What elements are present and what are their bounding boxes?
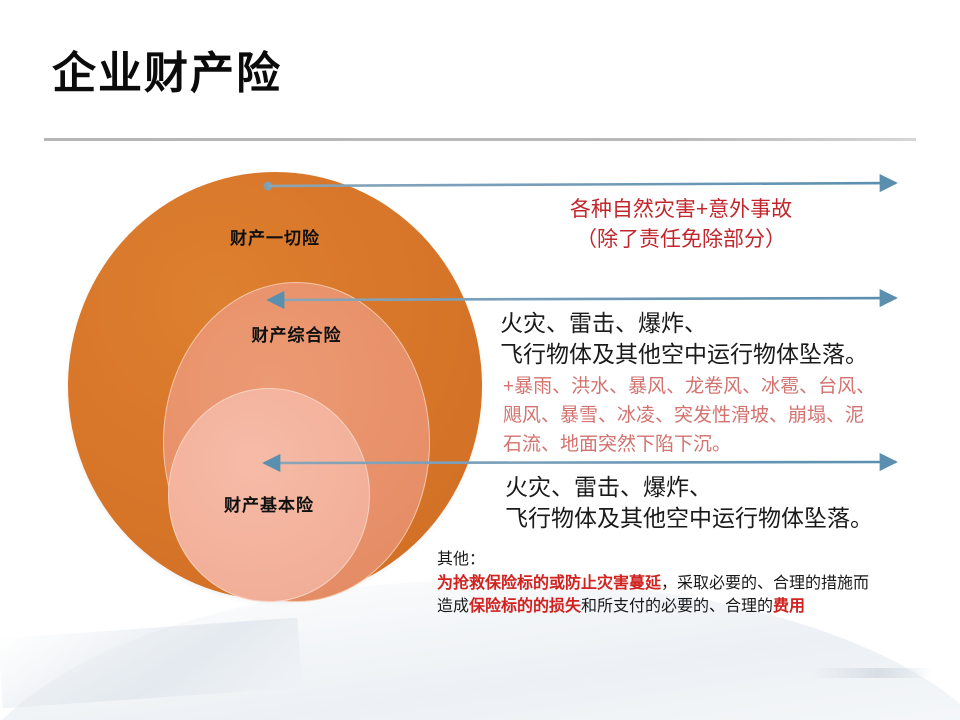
other-note-block: 其他： 为抢救保险标的或防止灾害蔓延，采取必要的、合理的措施而造成保险标的的损失… [437,548,937,618]
circle-label-comprehensive-risk: 财产综合险 [164,321,429,346]
other-note-segment-5: 和所支付的必要的、合理的 [581,598,773,615]
callout-all-risk: 各种自然灾害+意外事故 （除了责任免除部分） [516,195,846,255]
slide-canvas: 企业财产险 财产一切险 财产综合险 财产基本险 [0,0,960,720]
other-note-segment-1: 为抢救保险标的或防止灾害蔓延 [437,575,661,592]
other-note-body: 为抢救保险标的或防止灾害蔓延，采取必要的、合理的措施而造成保险标的的损失和所支付… [437,572,937,618]
other-note-segment-3: 造成 [437,598,469,615]
circle-label-basic-risk: 财产基本险 [169,491,369,516]
callout-comprehensive-risk-extra: +暴雨、洪水、暴风、龙卷风、冰雹、台风、 飓风、暴雪、冰凌、突发性滑坡、崩塌、泥… [503,372,875,459]
background-sweep-decoration-3 [812,668,932,678]
callout-comprehensive-risk-base: 火灾、雷击、爆炸、 飞行物体及其他空中运行物体坠落。 [500,308,868,370]
circle-label-all-risk: 财产一切险 [68,224,482,249]
other-note-segment-6: 费用 [773,598,805,615]
circle-basic-risk[interactable]: 财产基本险 [168,388,370,602]
callout-basic-risk: 火灾、雷击、爆炸、 飞行物体及其他空中运行物体坠落。 [505,472,873,534]
other-note-segment-2: ，采取必要的、合理的措施而 [661,575,869,592]
other-note-heading: 其他： [437,548,937,571]
other-note-segment-4: 保险标的的损失 [469,598,581,615]
